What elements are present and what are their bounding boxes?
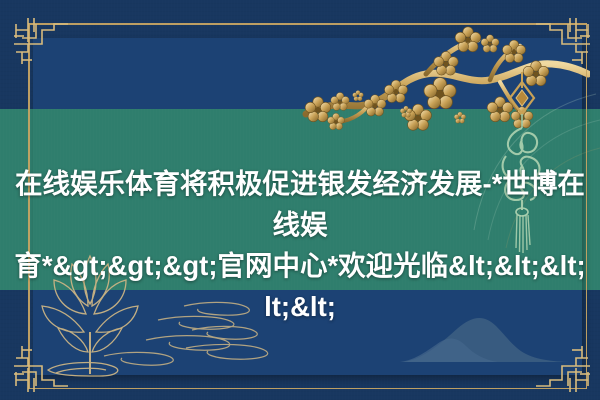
- fretwork-corner-top-right-icon: [534, 8, 598, 72]
- headline-line-1: 在线娱乐体育将积极促进银发经济发展-*世博在线娱: [2, 163, 598, 245]
- frame-line-bottom: [28, 388, 587, 390]
- headline-line-3: lt;&lt;: [2, 286, 598, 327]
- frame-line-top: [28, 23, 587, 25]
- fretwork-corner-bottom-left-icon: [6, 338, 70, 400]
- banner-image: 在线娱乐体育将积极促进银发经济发展-*世博在线娱 育*&gt;&gt;&gt;官…: [0, 0, 600, 400]
- headline-text: 在线娱乐体育将积极促进银发经济发展-*世博在线娱 育*&gt;&gt;&gt;官…: [0, 163, 600, 327]
- fretwork-corner-bottom-right-icon: [534, 338, 598, 400]
- fretwork-corner-top-left-icon: [6, 8, 70, 72]
- headline-line-2: 育*&gt;&gt;&gt;官网中心*欢迎光临&lt;&lt;&lt;: [2, 245, 598, 286]
